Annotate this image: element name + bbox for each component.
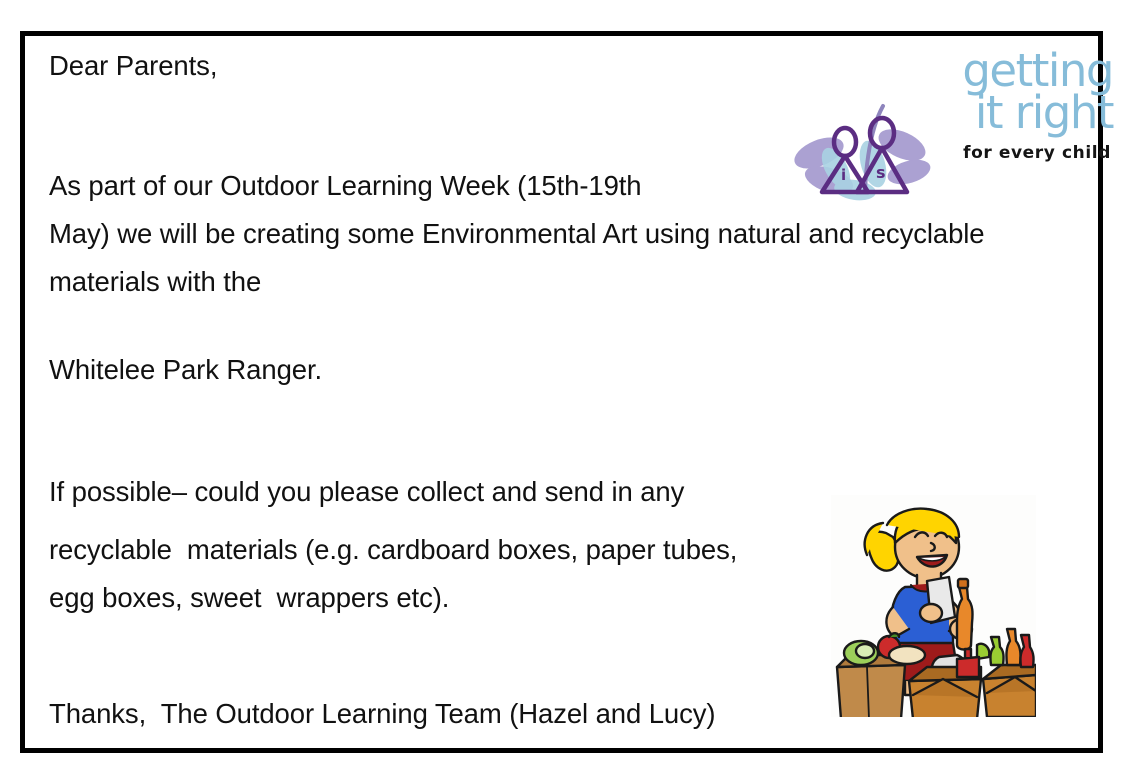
letter-border-frame: i s getting it right for every child Dea… [20,31,1103,753]
letter-ranger: Whitelee Park Ranger. [49,346,1089,394]
document-page: i s getting it right for every child Dea… [0,0,1124,772]
letter-greeting: Dear Parents, [49,42,1089,90]
letter-intro: As part of our Outdoor Learning Week (15… [49,162,1089,306]
letter-materials-list: recyclable materials (e.g. cardboard box… [49,526,839,622]
recycling-clipart [831,495,1036,717]
